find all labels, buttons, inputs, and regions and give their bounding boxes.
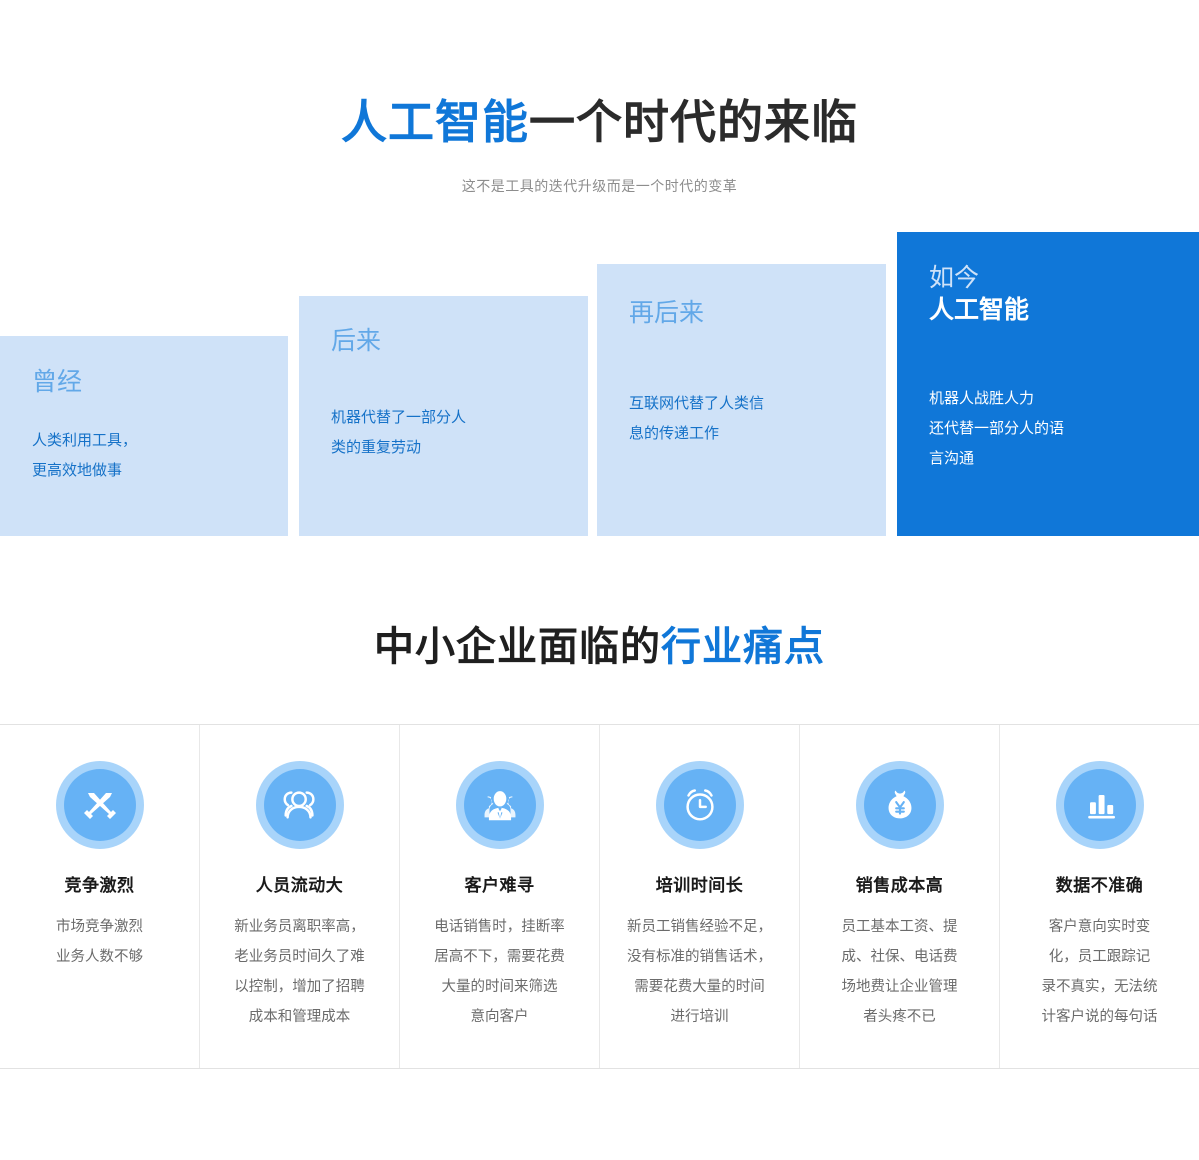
pain-points-title-accent: 行业痛点 <box>661 625 825 669</box>
timeline-card-body-line: 人类利用工具， <box>32 426 256 456</box>
pain-point-card-training[interactable]: 培训时间长 新员工销售经验不足， 没有标准的销售话术， 需要花费大量的时间 进行… <box>600 725 800 1068</box>
pain-point-line: 员工基本工资、提 <box>814 912 985 942</box>
pain-point-card-data[interactable]: 数据不准确 客户意向实时变 化，员工跟踪记 录不真实，无法统 计客户说的每句话 <box>1000 725 1199 1068</box>
timeline-card-body: 人类利用工具， 更高效地做事 <box>32 426 256 486</box>
pain-point-card-sales-cost[interactable]: 销售成本高 员工基本工资、提 成、社保、电话费 场地费让企业管理 者头疼不已 <box>800 725 1000 1068</box>
timeline-card-now: 如今 人工智能 机器人战胜人力 还代替一部分人的语 言沟通 <box>897 232 1199 536</box>
pain-point-heading: 培训时间长 <box>614 871 785 896</box>
pain-point-line: 以控制，增加了招聘 <box>214 972 385 1002</box>
icon-disc <box>664 769 736 841</box>
timeline-card-strong-label: 人工智能 <box>929 294 1167 328</box>
bar-chart-icon <box>1056 761 1144 849</box>
pain-point-line: 大量的时间来筛选 <box>414 972 585 1002</box>
timeline-card-body: 互联网代替了人类信 息的传递工作 <box>629 389 854 449</box>
icon-disc <box>864 769 936 841</box>
pain-point-heading: 销售成本高 <box>814 871 985 896</box>
pain-point-line: 成本和管理成本 <box>214 1002 385 1032</box>
timeline-card-body-line: 言沟通 <box>929 444 1167 474</box>
pain-point-line: 场地费让企业管理 <box>814 972 985 1002</box>
pain-point-heading: 人员流动大 <box>214 871 385 896</box>
pain-point-line: 业务人数不够 <box>14 942 185 972</box>
timeline-card-label: 后来 <box>331 328 556 356</box>
pain-points-title-rest: 中小企业面临的 <box>374 625 661 669</box>
timeline-card-even-later: 再后来 互联网代替了人类信 息的传递工作 <box>597 264 886 536</box>
pain-point-line: 化，员工跟踪记 <box>1014 942 1185 972</box>
pain-point-line: 老业务员时间久了难 <box>214 942 385 972</box>
pain-point-card-competition[interactable]: 竞争激烈 市场竞争激烈 业务人数不够 <box>0 725 200 1068</box>
pain-point-description: 电话销售时，挂断率 居高不下，需要花费 大量的时间来筛选 意向客户 <box>414 912 585 1032</box>
pain-point-line: 进行培训 <box>614 1002 785 1032</box>
timeline-card-label: 如今 <box>929 265 1167 293</box>
pain-point-heading: 竞争激烈 <box>14 871 185 896</box>
pain-point-line: 意向客户 <box>414 1002 585 1032</box>
timeline-card-body-line: 互联网代替了人类信 <box>629 389 854 419</box>
pain-point-line: 新员工销售经验不足， <box>614 912 785 942</box>
pain-point-description: 新员工销售经验不足， 没有标准的销售话术， 需要花费大量的时间 进行培训 <box>614 912 785 1032</box>
money-bag-yuan-icon <box>856 761 944 849</box>
pain-point-line: 计客户说的每句话 <box>1014 1002 1185 1032</box>
timeline-card-label: 再后来 <box>629 300 854 328</box>
pain-point-line: 需要花费大量的时间 <box>614 972 785 1002</box>
pain-points-title: 中小企业面临的行业痛点 <box>0 614 1199 672</box>
pain-point-description: 客户意向实时变 化，员工跟踪记 录不真实，无法统 计客户说的每句话 <box>1014 912 1185 1032</box>
timeline-card-body-line: 更高效地做事 <box>32 456 256 486</box>
customer-crowd-icon <box>456 761 544 849</box>
pain-point-line: 客户意向实时变 <box>1014 912 1185 942</box>
icon-disc <box>264 769 336 841</box>
timeline-card-label: 曾经 <box>32 369 256 397</box>
timeline-section: 曾经 人类利用工具， 更高效地做事 后来 机器代替了一部分人 类的重复劳动 再后… <box>0 221 1199 536</box>
pain-points-grid: 竞争激烈 市场竞争激烈 业务人数不够 人员流动大 新业务员离职率高， 老业务员 <box>0 724 1199 1069</box>
timeline-card-body: 机器人战胜人力 还代替一部分人的语 言沟通 <box>929 384 1167 474</box>
timeline-card-body-line: 机器代替了一部分人 <box>331 403 556 433</box>
icon-disc <box>464 769 536 841</box>
pain-point-description: 市场竞争激烈 业务人数不够 <box>14 912 185 972</box>
timeline-card-body: 机器代替了一部分人 类的重复劳动 <box>331 403 556 463</box>
timeline-card-body-line: 类的重复劳动 <box>331 433 556 463</box>
pain-point-line: 没有标准的销售话术， <box>614 942 785 972</box>
pain-point-line: 成、社保、电话费 <box>814 942 985 972</box>
pain-point-heading: 数据不准确 <box>1014 871 1185 896</box>
icon-disc <box>1064 769 1136 841</box>
pain-point-description: 员工基本工资、提 成、社保、电话费 场地费让企业管理 者头疼不已 <box>814 912 985 1032</box>
pain-point-card-turnover[interactable]: 人员流动大 新业务员离职率高， 老业务员时间久了难 以控制，增加了招聘 成本和管… <box>200 725 400 1068</box>
page-subtitle: 这不是工具的迭代升级而是一个时代的变革 <box>0 176 1199 196</box>
pain-point-heading: 客户难寻 <box>414 871 585 896</box>
alarm-clock-icon <box>656 761 744 849</box>
page-title-accent: 人工智能 <box>341 96 529 148</box>
pain-point-line: 新业务员离职率高， <box>214 912 385 942</box>
timeline-card-later: 后来 机器代替了一部分人 类的重复劳动 <box>299 296 588 536</box>
pain-point-description: 新业务员离职率高， 老业务员时间久了难 以控制，增加了招聘 成本和管理成本 <box>214 912 385 1032</box>
page-title: 人工智能一个时代的来临 <box>0 96 1199 149</box>
timeline-card-body-line: 还代替一部分人的语 <box>929 414 1167 444</box>
timeline-card-body-line: 息的传递工作 <box>629 419 854 449</box>
pain-point-line: 电话销售时，挂断率 <box>414 912 585 942</box>
timeline-card-body-line: 机器人战胜人力 <box>929 384 1167 414</box>
page-title-rest: 一个时代的来临 <box>529 96 858 148</box>
icon-disc <box>64 769 136 841</box>
pain-point-line: 居高不下，需要花费 <box>414 942 585 972</box>
people-group-icon <box>256 761 344 849</box>
pain-point-line: 市场竞争激烈 <box>14 912 185 942</box>
timeline-card-past: 曾经 人类利用工具， 更高效地做事 <box>0 336 288 536</box>
pain-point-line: 录不真实，无法统 <box>1014 972 1185 1002</box>
pain-point-card-customers[interactable]: 客户难寻 电话销售时，挂断率 居高不下，需要花费 大量的时间来筛选 意向客户 <box>400 725 600 1068</box>
pain-point-line: 者头疼不已 <box>814 1002 985 1032</box>
crossed-swords-icon <box>56 761 144 849</box>
